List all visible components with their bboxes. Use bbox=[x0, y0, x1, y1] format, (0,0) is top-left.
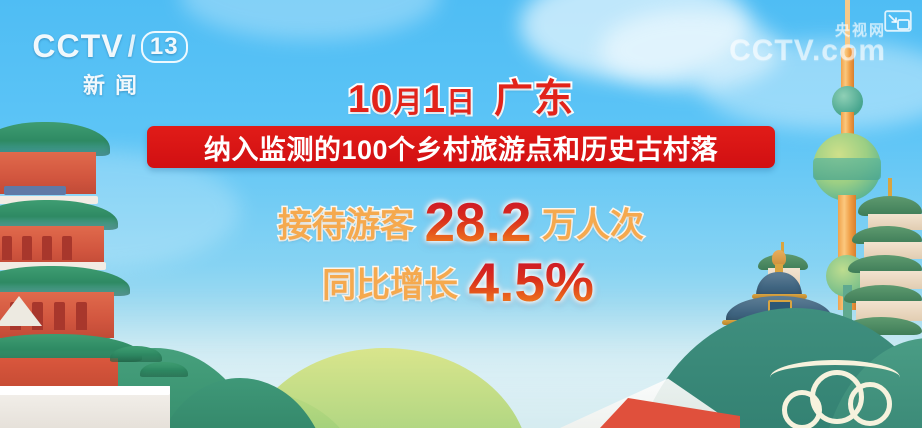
swirl-icon bbox=[782, 390, 822, 428]
stat-growth: 同比增长 4.5% bbox=[0, 250, 922, 314]
swirl-tail bbox=[770, 360, 900, 395]
site-watermark: 央视网 CCTV.com bbox=[729, 34, 886, 68]
stat-visitors: 接待游客 28.2 万人次 bbox=[0, 190, 922, 254]
subtitle-banner-text: 纳入监测的100个乡村旅游点和历史古村落 bbox=[204, 128, 718, 167]
headline-region: 广东 bbox=[494, 78, 574, 121]
pavilion-terrace-rail bbox=[0, 386, 170, 395]
headline-day-unit: 日 bbox=[446, 87, 476, 119]
pavilion-roof-top bbox=[0, 122, 110, 156]
stat-visitors-unit: 万人次 bbox=[542, 207, 644, 245]
channel-logo-slash: / bbox=[128, 30, 137, 64]
cloud bbox=[180, 0, 440, 40]
stat-visitors-value: 28.2 bbox=[418, 191, 537, 253]
site-watermark-cn: 央视网 bbox=[835, 19, 886, 40]
tower-sphere-band bbox=[813, 158, 881, 180]
picture-in-picture-icon[interactable] bbox=[884, 10, 912, 32]
stat-growth-label: 同比增长 bbox=[322, 267, 458, 305]
channel-logo-row: CCTV / 13 bbox=[40, 28, 180, 65]
headline-day: 1 bbox=[423, 78, 446, 121]
channel-logo-text: CCTV bbox=[32, 28, 123, 65]
headline-month-unit: 月 bbox=[393, 87, 423, 119]
page-title: 10月1日广东 bbox=[0, 68, 922, 124]
stat-visitors-label: 接待游客 bbox=[278, 207, 414, 245]
subtitle-banner: 纳入监测的100个乡村旅游点和历史古村落 bbox=[147, 126, 775, 168]
headline-month: 10 bbox=[348, 78, 393, 121]
stat-growth-value: 4.5% bbox=[463, 251, 600, 313]
pavilion-side-roof-b bbox=[140, 362, 188, 377]
broadcast-graphic: CCTV / 13 新闻 央视网 CCTV.com 10月1日广东 纳入监测的1… bbox=[0, 0, 922, 428]
channel-logo-number: 13 bbox=[141, 31, 188, 63]
